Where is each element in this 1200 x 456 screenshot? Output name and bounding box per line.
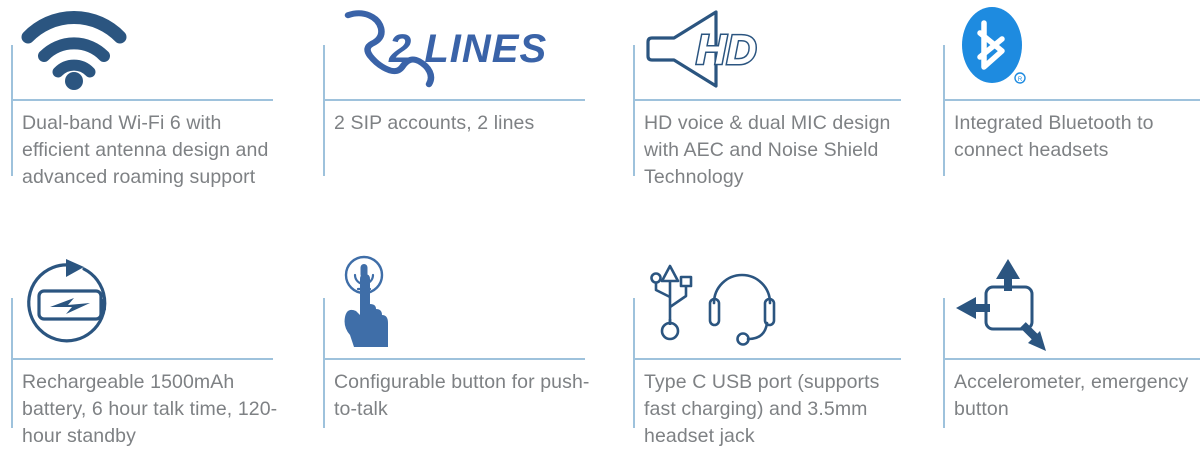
bluetooth-icon-wrap: R (954, 0, 1034, 95)
feature-cell-usb-headset: Type C USB port (supports fast charging)… (622, 228, 932, 456)
feature-cell-hd-voice: HD HD voice & dual MIC design with AEC a… (622, 0, 932, 228)
horizontal-divider (323, 358, 585, 360)
feature-cell-battery: Rechargeable 1500mAh battery, 6 hour tal… (0, 228, 312, 456)
vertical-divider (323, 45, 325, 176)
wifi-icon-wrap (22, 0, 126, 95)
hd-speaker-icon-wrap: HD (644, 0, 762, 95)
push-to-talk-hand-icon-wrap (334, 252, 412, 357)
hand-shape (345, 274, 388, 347)
bluetooth-icon: R (954, 5, 1034, 91)
horizontal-divider (11, 99, 273, 101)
two-lines-phone-icon: 2 LINES (334, 10, 509, 86)
feature-caption: Configurable button for push-to-talk (334, 369, 596, 423)
hd-speaker-icon: HD (644, 8, 762, 88)
feature-caption: Rechargeable 1500mAh battery, 6 hour tal… (22, 369, 284, 450)
feature-grid: Dual-band Wi-Fi 6 with efficient antenna… (0, 0, 1200, 456)
feature-cell-push-to-talk: Configurable button for push-to-talk (312, 228, 622, 456)
horizontal-divider (633, 358, 901, 360)
feature-cell-wifi: Dual-band Wi-Fi 6 with efficient antenna… (0, 0, 312, 228)
rechargeable-battery-icon (22, 257, 124, 353)
horizontal-divider (11, 358, 273, 360)
feature-cell-two-lines: 2 LINES 2 SIP accounts, 2 lines (312, 0, 622, 228)
feature-caption: Integrated Bluetooth to connect headsets (954, 110, 1200, 164)
horizontal-divider (943, 99, 1200, 101)
usb-icon (652, 266, 692, 339)
horizontal-divider (323, 99, 585, 101)
recycle-arrowhead (66, 259, 84, 277)
usb-headset-icon-wrap (644, 252, 784, 357)
two-lines-label: 2 LINES (388, 27, 547, 71)
accelerometer-icon-wrap (954, 252, 1054, 357)
vertical-divider (633, 45, 635, 176)
rechargeable-battery-icon-wrap (22, 252, 124, 357)
wifi-dot (65, 72, 83, 90)
feature-caption: HD voice & dual MIC design with AEC and … (644, 110, 916, 191)
feature-cell-bluetooth: R Integrated Bluetooth to connect headse… (932, 0, 1200, 228)
accelerometer-icon (954, 259, 1054, 351)
wifi-icon (22, 9, 126, 87)
lightning-bolt-icon (50, 298, 90, 314)
feature-cell-accelerometer: Accelerometer, emergency button (932, 228, 1200, 456)
accelerometer-body (986, 287, 1032, 329)
vertical-divider (11, 298, 13, 428)
horizontal-divider (633, 99, 901, 101)
feature-caption: Type C USB port (supports fast charging)… (644, 369, 916, 450)
vertical-divider (633, 298, 635, 428)
two-lines-phone-icon-wrap: 2 LINES (334, 0, 509, 95)
vertical-divider (323, 298, 325, 428)
horizontal-divider (943, 358, 1200, 360)
feature-caption: Accelerometer, emergency button (954, 369, 1200, 423)
vertical-divider (11, 45, 13, 176)
feature-caption: Dual-band Wi-Fi 6 with efficient antenna… (22, 110, 284, 191)
vertical-divider (943, 45, 945, 176)
usb-headset-icon (644, 263, 784, 347)
headset-icon (710, 275, 774, 345)
hd-label: HD (696, 26, 757, 73)
registered-trademark-letter: R (1018, 77, 1023, 83)
vertical-divider (943, 298, 945, 428)
push-to-talk-hand-icon (334, 255, 412, 355)
battery-terminal (101, 299, 106, 311)
feature-caption: 2 SIP accounts, 2 lines (334, 110, 596, 137)
